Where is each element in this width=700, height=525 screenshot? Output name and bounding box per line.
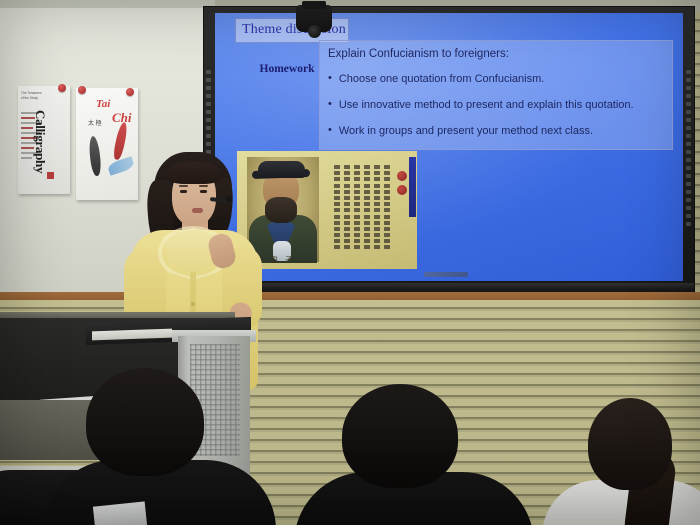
poster-calligraphy: The Treasures of the Study Calligraphy: [18, 86, 70, 194]
slide-bullet-text: Work in groups and present your method n…: [339, 125, 593, 137]
confucius-beard: [265, 197, 297, 223]
display-bezel-bottom: [204, 283, 694, 289]
magnet-pin: [78, 86, 86, 94]
student-silhouette: [58, 368, 258, 525]
poster-calligraphy-title: Calligraphy: [32, 110, 48, 173]
student-collar: [93, 501, 147, 525]
poster-taichi-brushstroke-black: [88, 136, 102, 177]
display-screen[interactable]: Theme discussion Homework Explain Confuc…: [215, 13, 683, 281]
teacher-eyebrow: [199, 185, 208, 187]
ceiling-strip: [0, 0, 215, 8]
slide-image-blue-bar: [409, 157, 416, 217]
teacher-eye: [180, 190, 187, 193]
confucius-seal-stamp: [397, 185, 407, 195]
student-head: [86, 368, 204, 476]
poster-calligraphy-header: The Treasures of the Study: [21, 91, 45, 101]
magnet-pin: [126, 88, 134, 96]
classroom-scene: The Treasures of the Study Calligraphy T…: [0, 0, 700, 525]
camera-mount: [302, 1, 326, 9]
student-silhouette: [566, 398, 700, 525]
microphone-tip-icon: [226, 196, 232, 202]
student-head: [588, 398, 672, 490]
bullet-icon: •: [328, 99, 332, 111]
student-silhouette: [312, 384, 512, 525]
bullet-icon: •: [328, 125, 332, 137]
student-head: [342, 384, 458, 488]
slide-bullet: • Use innovative method to present and e…: [328, 99, 634, 111]
slide-intro-text: Explain Confucianism to foreigners:: [328, 48, 509, 60]
poster-taichi-title-part1: Tai: [96, 98, 110, 110]
confucius-chinese-text: [329, 165, 391, 257]
display-brand-logo: [424, 272, 468, 277]
confucius-seal-stamp: [397, 171, 407, 181]
display-speaker-right: [686, 70, 692, 226]
poster-taichi-ink-marks: 太 極: [88, 118, 102, 127]
teacher-button: [191, 302, 195, 306]
bullet-icon: •: [328, 73, 332, 85]
teacher-eye: [200, 190, 207, 193]
teacher-mouth: [192, 208, 203, 213]
slide-bullet-text: Use innovative method to present and exp…: [339, 99, 634, 111]
classroom-camera-icon: [296, 5, 332, 32]
slide-bullet: • Choose one quotation from Confucianism…: [328, 73, 544, 85]
teacher-bangs: [168, 162, 220, 184]
slide-homework-box: Explain Confucianism to foreigners: • Ch…: [319, 40, 673, 150]
poster-calligraphy-seal: [47, 172, 54, 179]
teacher-eyebrow: [179, 185, 188, 187]
camera-lens-icon: [308, 25, 321, 38]
slide-bullet: • Work in groups and present your method…: [328, 125, 593, 137]
magnet-pin: [58, 84, 66, 92]
slide-bullet-text: Choose one quotation from Confucianism.: [339, 73, 544, 85]
